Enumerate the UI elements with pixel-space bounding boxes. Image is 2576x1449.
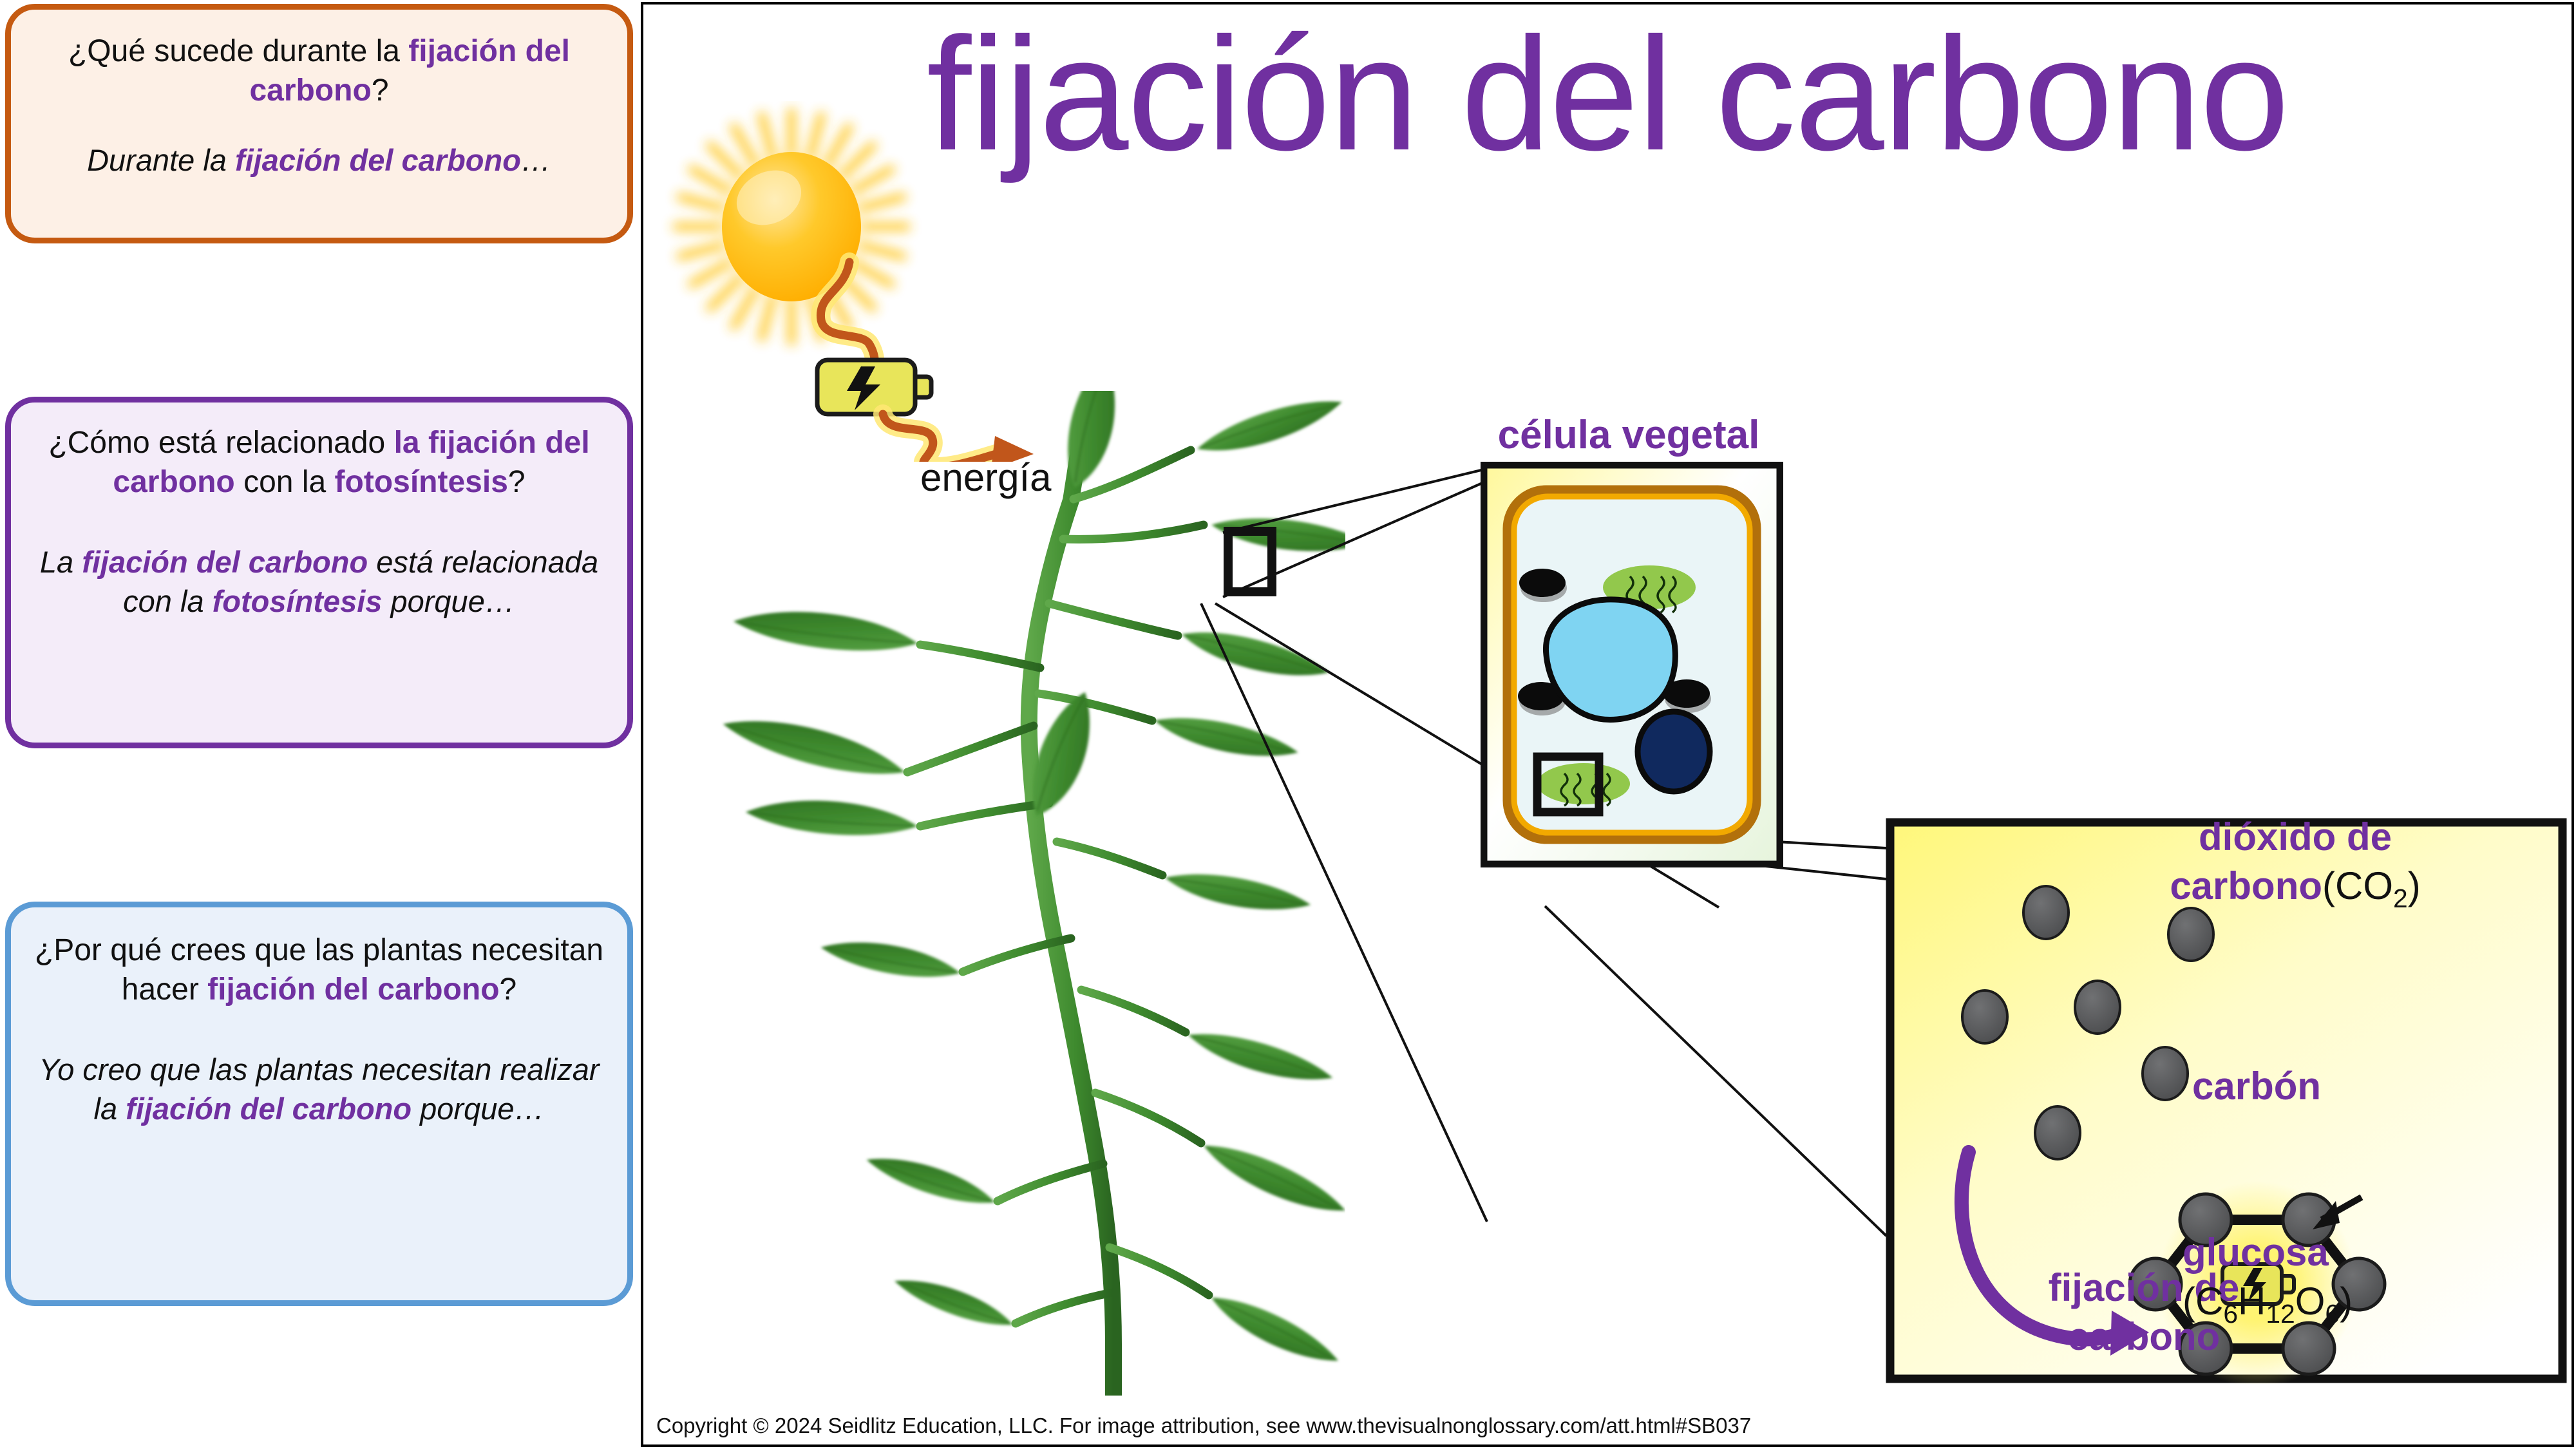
answer-highlight-term: fijación del carbono xyxy=(82,545,368,579)
question-text-part: ? xyxy=(500,972,517,1007)
question-highlight-term: fotosíntesis xyxy=(335,465,508,499)
card-question: ¿Qué sucede durante la fijación del carb… xyxy=(33,32,605,111)
vacuole xyxy=(1546,600,1675,720)
card-answer-stem: Yo creo que las plantas necesitan realiz… xyxy=(33,1050,605,1128)
card-question: ¿Por qué crees que las plantas necesitan… xyxy=(33,931,605,1010)
plant-leaves xyxy=(719,391,1345,1376)
glucose-label-text: glucosa xyxy=(2183,1231,2329,1274)
plant-cell-label: célula vegetal xyxy=(1481,412,1777,458)
plant-cell-diagram xyxy=(1481,462,1783,867)
question-text-part: ? xyxy=(372,73,389,108)
co2-formula-open: (CO xyxy=(2322,864,2393,907)
answer-text-part: porque… xyxy=(412,1092,544,1126)
glucose-label: glucosa (C6H12O6) xyxy=(2183,1228,2440,1331)
co2-label-line1: dióxido de xyxy=(2199,815,2392,858)
prompt-card-why-plants-need[interactable]: ¿Por qué crees que las plantas necesitan… xyxy=(5,902,633,1306)
prompt-card-relation-photosynthesis[interactable]: ¿Cómo está relacionado la fijación del c… xyxy=(5,397,633,748)
question-text-part: con la xyxy=(235,465,335,499)
glucose-formula: (C6H12O6) xyxy=(2183,1280,2353,1323)
answer-highlight-term: fijación del carbono xyxy=(126,1092,412,1126)
card-answer-stem: Durante la fijación del carbono… xyxy=(33,140,605,180)
answer-text-part: … xyxy=(521,143,551,177)
co2-formula-sub: 2 xyxy=(2393,884,2408,913)
question-text-part: ? xyxy=(508,465,526,499)
answer-highlight-term: fijación del carbono xyxy=(235,143,521,177)
answer-text-part: La xyxy=(40,545,82,579)
question-text-part: ¿Qué sucede durante la xyxy=(68,34,408,68)
card-answer-stem: La fijación del carbono está relacionada… xyxy=(33,542,605,621)
answer-text-part: Durante la xyxy=(87,143,235,177)
connector-chloro-box-lower xyxy=(1545,906,1886,1236)
nucleus xyxy=(1638,712,1710,791)
answer-highlight-term: fotosíntesis xyxy=(213,584,383,618)
plant-illustration xyxy=(663,391,1345,1396)
copyright-footer: Copyright © 2024 Seidlitz Education, LLC… xyxy=(656,1414,1751,1438)
co2-label: dióxido de carbono(CO2) xyxy=(2144,813,2447,915)
illustration-panel: fijación del carbono xyxy=(641,2,2574,1447)
co2-formula-close: ) xyxy=(2408,864,2421,907)
answer-text-part: porque… xyxy=(382,584,515,618)
plant-stem xyxy=(1029,442,1113,1396)
carbon-atom xyxy=(2283,1323,2334,1374)
carbon-atom-label: carbón xyxy=(2192,1064,2321,1108)
diagram-stage: energía xyxy=(643,5,2576,1449)
co2-label-line2: carbono xyxy=(2170,864,2322,907)
prompt-cards-column: ¿Qué sucede durante la fijación del carb… xyxy=(0,0,641,1449)
question-text-part: ¿Cómo está relacionado xyxy=(48,426,393,460)
prompt-card-what-happens[interactable]: ¿Qué sucede durante la fijación del carb… xyxy=(5,4,633,243)
question-highlight-term: fijación del carbono xyxy=(207,972,499,1007)
card-question: ¿Cómo está relacionado la fijación del c… xyxy=(33,423,605,502)
